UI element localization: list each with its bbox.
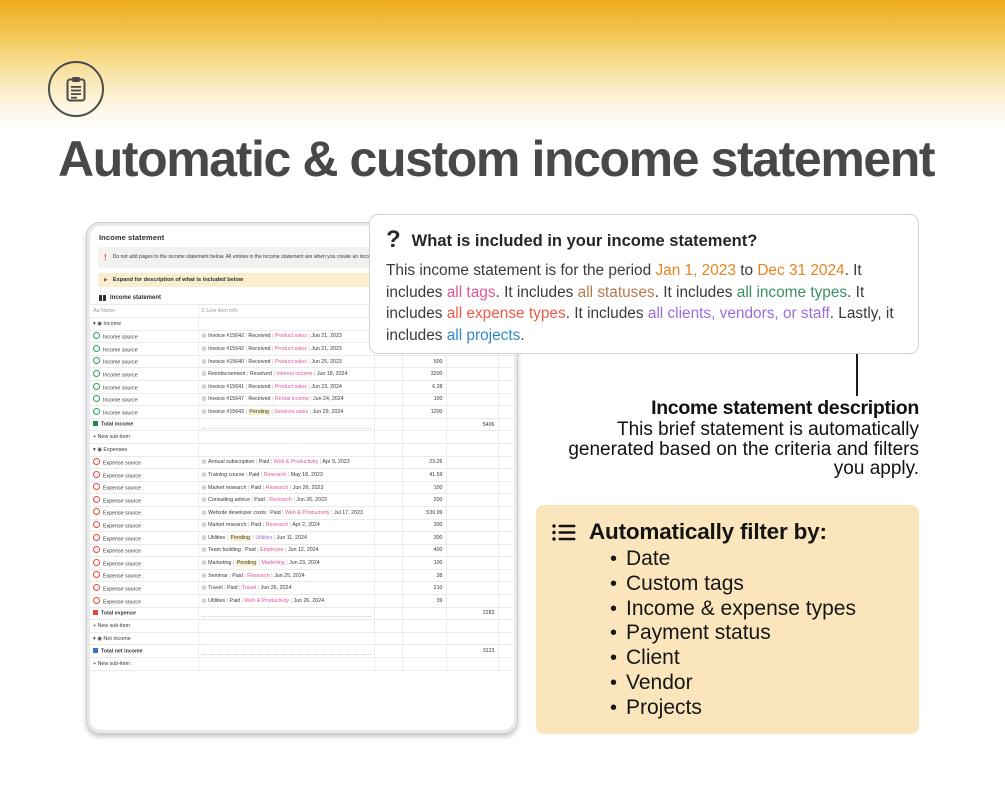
table-total-row[interactable]: Total expense2283: [90, 607, 514, 620]
annotation-block: Income statement description This brief …: [558, 397, 919, 479]
row-amount[interactable]: 41.59: [402, 469, 446, 482]
row-amount[interactable]: 210: [402, 582, 446, 595]
row-status: Paid: [259, 459, 270, 465]
filter-statuses: all statuses: [578, 284, 655, 301]
group-amount: [402, 443, 446, 456]
row-total: [446, 456, 498, 469]
new-subitem-info: [198, 620, 374, 633]
row-line-item-info[interactable]: ◎Invoice #15642 | Received | Product sal…: [198, 343, 374, 356]
group-label[interactable]: ▾ ◉ Expenses: [90, 443, 198, 456]
row-amount[interactable]: 300: [402, 519, 446, 532]
row-doc: Market research: [208, 522, 246, 528]
group-info: [198, 318, 374, 331]
row-blank: [374, 532, 402, 545]
page-icon: ◎: [202, 522, 207, 528]
group-label[interactable]: ▾ ◉ Income: [90, 318, 198, 331]
row-status: Paid: [245, 547, 256, 553]
column-header-name[interactable]: Aa Name: [90, 305, 198, 318]
clipboard-icon: [48, 61, 104, 117]
row-end: [498, 519, 514, 532]
total-amount-blank: [402, 645, 446, 658]
row-doc: Consulting advice: [208, 497, 250, 503]
row-status: Pending: [230, 535, 251, 541]
row-status: Received: [248, 384, 270, 390]
status-circle-icon: [93, 521, 100, 528]
row-total: [446, 557, 498, 570]
row-end: [498, 355, 514, 368]
row-doc: Market research: [208, 485, 246, 491]
row-blank: [374, 544, 402, 557]
row-status: Paid: [251, 485, 262, 491]
filter-panel-header: Automatically filter by:: [552, 519, 903, 545]
row-line-item-info[interactable]: ◎Travel | Paid | Travel | Jun 26, 2024: [198, 582, 374, 595]
status-circle-icon: [93, 471, 100, 478]
filter-list-item: Custom tags: [552, 572, 903, 597]
row-label[interactable]: Income source: [90, 380, 198, 393]
page-icon: ◎: [202, 371, 207, 377]
annotation-title: Income statement description: [558, 397, 919, 419]
row-type: Web & Productivity: [274, 459, 319, 465]
row-line-item-info[interactable]: ◎Consulting advice | Paid | Research | J…: [198, 494, 374, 507]
page-icon: ◎: [202, 510, 207, 516]
row-status: Paid: [270, 510, 281, 516]
filter-list-item: Date: [552, 547, 903, 572]
status-circle-icon: [93, 546, 100, 553]
row-date: May 18, 2023: [291, 472, 323, 478]
row-total: [446, 595, 498, 608]
row-amount[interactable]: 6.28: [402, 380, 446, 393]
total-amount-blank: [402, 607, 446, 620]
table-row[interactable]: Expense source◎Website developer costs |…: [90, 506, 514, 519]
table-row[interactable]: Expense source◎Travel | Paid | Travel | …: [90, 582, 514, 595]
row-type: Product sales: [275, 384, 307, 390]
row-line-item-info[interactable]: ◎Annual subscription | Paid | Web & Prod…: [198, 456, 374, 469]
row-blank: [374, 494, 402, 507]
triangle-right-icon: ▶: [104, 278, 108, 283]
row-line-item-info[interactable]: ◎Market research | Paid | Research | Jun…: [198, 481, 374, 494]
row-label[interactable]: Expense source: [90, 494, 198, 507]
row-amount[interactable]: 100: [402, 393, 446, 406]
row-status: Received: [250, 371, 272, 377]
table-row[interactable]: Expense source◎Training course | Paid | …: [90, 469, 514, 482]
row-end: [498, 532, 514, 545]
total-amount-blank: [402, 418, 446, 431]
page-icon: ◎: [202, 497, 207, 503]
status-circle-icon: [93, 559, 100, 566]
table-row[interactable]: Income source◎Invoice #15641 | Received …: [90, 380, 514, 393]
row-line-item-info[interactable]: ◎Seminar | Paid | Research | Jun 25, 202…: [198, 569, 374, 582]
status-circle-icon: [93, 408, 100, 415]
row-total: [446, 481, 498, 494]
qa-body: This income statement is for the period …: [386, 260, 900, 346]
page-icon: ◎: [202, 547, 207, 553]
group-end: [498, 632, 514, 645]
row-amount[interactable]: 400: [402, 544, 446, 557]
row-label[interactable]: Expense source: [90, 557, 198, 570]
row-type: Rental income: [275, 396, 309, 402]
row-line-item-info[interactable]: ◎Marketing | Pending | Marketing | Jun 2…: [198, 557, 374, 570]
group-icon: ◉: [97, 636, 102, 642]
group-total: [446, 632, 498, 645]
filter-panel-title: Automatically filter by:: [589, 519, 827, 545]
table-group-row[interactable]: ▾ ◉ Net income: [90, 632, 514, 645]
row-line-item-info[interactable]: ◎Invoice #15647 | Received | Rental inco…: [198, 393, 374, 406]
row-end: [498, 406, 514, 419]
row-line-item-info[interactable]: ◎Market research | Paid | Research | Apr…: [198, 519, 374, 532]
row-doc: Seminar: [208, 573, 228, 579]
text-icon: Aa: [93, 308, 99, 314]
total-end: [498, 418, 514, 431]
row-blank: [374, 582, 402, 595]
row-doc: Invoice #15642: [208, 346, 244, 352]
row-date: Jun 26, 2024: [261, 585, 292, 591]
column-header-line-item-info[interactable]: Σ Line item info: [198, 305, 374, 318]
row-line-item-info[interactable]: ◎Invoice #15642 | Received | Product sal…: [198, 330, 374, 343]
new-subitem-row[interactable]: + New sub-item: [90, 431, 514, 444]
new-subitem-end: [498, 658, 514, 671]
group-total: [446, 443, 498, 456]
row-amount[interactable]: 23.26: [402, 456, 446, 469]
row-type: Interest income: [276, 371, 312, 377]
row-doc: Utilities: [208, 535, 225, 541]
row-blank: [374, 393, 402, 406]
row-line-item-info[interactable]: ◎Utilities | Paid | Web & Productivity |…: [198, 595, 374, 608]
new-subitem-label[interactable]: + New sub-item: [90, 431, 198, 444]
database-name: Income statement: [110, 295, 161, 301]
row-label[interactable]: Expense source: [90, 519, 198, 532]
new-subitem-end: [498, 620, 514, 633]
row-amount[interactable]: 530.99: [402, 506, 446, 519]
header-gradient-band: [0, 0, 1005, 132]
row-total: [446, 469, 498, 482]
total-label[interactable]: Total expense: [90, 607, 198, 620]
row-label[interactable]: Expense source: [90, 582, 198, 595]
status-circle-icon: [93, 395, 100, 402]
row-end: [498, 544, 514, 557]
new-subitem-amount: [402, 658, 446, 671]
total-label[interactable]: Total net income: [90, 645, 198, 658]
row-line-item-info[interactable]: ◎Reimbursement | Received | Interest inc…: [198, 368, 374, 381]
page-icon: ◎: [202, 409, 207, 415]
row-total: [446, 532, 498, 545]
total-dotted-line: [202, 427, 371, 429]
row-end: [498, 557, 514, 570]
table-row[interactable]: Expense source◎Utilities | Pending | Uti…: [90, 532, 514, 545]
new-subitem-amount: [402, 431, 446, 444]
sigma-icon: Σ: [202, 308, 205, 314]
row-doc: Marketing: [208, 560, 231, 566]
row-label[interactable]: Expense source: [90, 456, 198, 469]
total-end: [498, 607, 514, 620]
page-icon: ◎: [202, 535, 207, 541]
row-label[interactable]: Income source: [90, 368, 198, 381]
table-row[interactable]: Expense source◎Market research | Paid | …: [90, 481, 514, 494]
row-end: [498, 481, 514, 494]
status-circle-icon: [93, 458, 100, 465]
row-end: [498, 582, 514, 595]
filter-list-item: Income & expense types: [552, 597, 903, 622]
page-icon: ◎: [202, 573, 207, 579]
status-circle-icon: [93, 571, 100, 578]
new-subitem-row[interactable]: + New sub-item: [90, 620, 514, 633]
total-blank: [374, 645, 402, 658]
row-label[interactable]: Income source: [90, 406, 198, 419]
total-end: [498, 645, 514, 658]
page-icon: ◎: [202, 485, 207, 491]
row-blank: [374, 380, 402, 393]
table-row[interactable]: Income source◎Invoice #15640 | Received …: [90, 355, 514, 368]
row-doc: Invoice #15647: [208, 396, 244, 402]
row-doc: Utilities: [208, 598, 225, 604]
row-type: Product sales: [275, 346, 307, 352]
row-date: Jun 26, 2024: [293, 598, 324, 604]
row-type: Travel: [242, 585, 257, 591]
row-label[interactable]: Income source: [90, 330, 198, 343]
total-label[interactable]: Total income: [90, 418, 198, 431]
annotation-pointer-line: [856, 354, 858, 396]
row-label[interactable]: Expense source: [90, 481, 198, 494]
row-line-item-info[interactable]: ◎Invoice #15643 | Pending | Services sal…: [198, 406, 374, 419]
table-row[interactable]: Expense source◎Consulting advice | Paid …: [90, 494, 514, 507]
row-amount[interactable]: 100: [402, 481, 446, 494]
status-circle-icon: [93, 383, 100, 390]
row-status: Paid: [249, 472, 260, 478]
plus-icon: +: [93, 623, 96, 629]
total-dotted-line: [202, 653, 371, 655]
row-status: Received: [248, 346, 270, 352]
row-blank: [374, 557, 402, 570]
row-amount[interactable]: 500: [402, 355, 446, 368]
qa-text-5: . It includes: [655, 284, 737, 301]
total-blank: [374, 607, 402, 620]
page-icon: ◎: [202, 585, 207, 591]
total-dotted-line: [202, 615, 371, 617]
table-row[interactable]: Expense source◎Market research | Paid | …: [90, 519, 514, 532]
page-icon: ◎: [202, 359, 207, 365]
row-status: Received: [248, 333, 270, 339]
row-date: Apr 9, 2023: [322, 459, 349, 465]
row-amount[interactable]: 200: [402, 494, 446, 507]
row-doc: Invoice #15640: [208, 359, 244, 365]
row-total: [446, 368, 498, 381]
row-amount[interactable]: 38: [402, 569, 446, 582]
new-subitem-blank: [374, 658, 402, 671]
row-type: Web & Productivity: [285, 510, 330, 516]
qa-text-9: .: [520, 327, 524, 344]
row-total: [446, 393, 498, 406]
row-date: Jun 24, 2024: [313, 396, 344, 402]
row-blank: [374, 481, 402, 494]
row-label[interactable]: Income source: [90, 343, 198, 356]
table-row[interactable]: Income source◎Reimbursement | Received |…: [90, 368, 514, 381]
page-title: Automatic & custom income statement: [58, 128, 958, 190]
row-blank: [374, 595, 402, 608]
row-doc: Travel: [208, 585, 223, 591]
plus-icon: +: [93, 434, 96, 440]
row-status: Pending: [236, 560, 257, 566]
table-row[interactable]: Expense source◎Annual subscription | Pai…: [90, 456, 514, 469]
table-row[interactable]: Expense source◎Utilities | Paid | Web & …: [90, 595, 514, 608]
row-doc: Invoice #15641: [208, 384, 244, 390]
new-subitem-label[interactable]: + New sub-item: [90, 620, 198, 633]
row-amount[interactable]: 100: [402, 557, 446, 570]
row-blank: [374, 519, 402, 532]
page-icon: ◎: [202, 346, 207, 352]
row-line-item-info[interactable]: ◎Training course | Paid | Research | May…: [198, 469, 374, 482]
new-subitem-end: [498, 431, 514, 444]
new-subitem-label[interactable]: + New sub-item: [90, 658, 198, 671]
plus-icon: +: [93, 661, 96, 667]
row-type: Research: [266, 522, 289, 528]
page-icon: ◎: [202, 459, 207, 465]
table-row[interactable]: Income source◎Invoice #15643 | Pending |…: [90, 406, 514, 419]
row-doc: Annual subscription: [208, 459, 254, 465]
row-status: Received: [248, 359, 270, 365]
total-value[interactable]: 3123: [446, 645, 498, 658]
row-line-item-info[interactable]: ◎Website developer costs | Paid | Web & …: [198, 506, 374, 519]
table-row[interactable]: Expense source◎Team building | Paid | Em…: [90, 544, 514, 557]
table-total-row[interactable]: Total net income3123: [90, 645, 514, 658]
row-label[interactable]: Expense source: [90, 469, 198, 482]
total-value[interactable]: 2283: [446, 607, 498, 620]
row-date: Jun 18, 2024: [317, 371, 348, 377]
group-amount: [402, 632, 446, 645]
status-circle-icon: [93, 370, 100, 377]
row-total: [446, 494, 498, 507]
period-end-date: Dec 31 2024: [757, 262, 844, 279]
row-date: Jun 29, 2024: [313, 409, 344, 415]
row-blank: [374, 469, 402, 482]
row-line-item-info[interactable]: ◎Team building | Paid | Employee | Jun 1…: [198, 544, 374, 557]
question-mark-icon: ?: [386, 229, 401, 251]
row-type: Research: [247, 573, 270, 579]
new-subitem-total: [446, 658, 498, 671]
row-blank: [374, 355, 402, 368]
table-row[interactable]: Expense source◎Seminar | Paid | Research…: [90, 569, 514, 582]
row-doc: Invoice #15643: [208, 409, 244, 415]
group-info: [198, 443, 374, 456]
row-label[interactable]: Income source: [90, 355, 198, 368]
row-label[interactable]: Expense source: [90, 544, 198, 557]
row-status: Paid: [232, 573, 243, 579]
page-icon: ◎: [202, 333, 207, 339]
page-icon: ◎: [202, 560, 207, 566]
total-value[interactable]: 5406: [446, 418, 498, 431]
row-label[interactable]: Expense source: [90, 506, 198, 519]
row-date: Jul 17, 2023: [334, 510, 363, 516]
row-type: Product sales: [275, 333, 307, 339]
total-square-icon: [93, 648, 98, 653]
exclamation-icon: !: [104, 253, 107, 262]
filter-list: DateCustom tagsIncome & expense typesPay…: [552, 547, 903, 721]
bullet-list-icon: [552, 523, 577, 542]
row-amount[interactable]: 300: [402, 532, 446, 545]
row-total: [446, 380, 498, 393]
total-blank: [374, 418, 402, 431]
row-date: Jun 21, 2023: [311, 333, 342, 339]
table-total-row[interactable]: Total income5406: [90, 418, 514, 431]
row-doc: Website developer costs: [208, 510, 266, 516]
row-line-item-info[interactable]: ◎Invoice #15641 | Received | Product sal…: [198, 380, 374, 393]
group-end: [498, 443, 514, 456]
filter-expense-types: all expense types: [447, 305, 566, 322]
new-subitem-amount: [402, 620, 446, 633]
total-info: [198, 645, 374, 658]
total-info: [198, 607, 374, 620]
row-line-item-info[interactable]: ◎Invoice #15640 | Received | Product sal…: [198, 355, 374, 368]
row-date: Jun 25, 2023: [311, 359, 342, 365]
income-statement-table: Aa NameΣ Line item info▾ ◉ IncomeIncome …: [90, 304, 514, 671]
row-label[interactable]: Expense source: [90, 532, 198, 545]
group-label[interactable]: ▾ ◉ Net income: [90, 632, 198, 645]
row-date: Jun 21, 2023: [311, 346, 342, 352]
new-subitem-row[interactable]: + New sub-item: [90, 658, 514, 671]
filter-income-types: all income types: [737, 284, 847, 301]
row-status: Paid: [254, 497, 265, 503]
qa-text-1: This income statement is for the period: [386, 262, 655, 279]
group-icon: ◉: [97, 321, 102, 327]
status-circle-icon: [93, 332, 100, 339]
book-icon: [99, 295, 106, 301]
row-total: [446, 582, 498, 595]
filter-list-item: Projects: [552, 696, 903, 721]
row-amount[interactable]: 1200: [402, 406, 446, 419]
row-end: [498, 569, 514, 582]
row-date: Jun 12, 2024: [288, 547, 319, 553]
filter-tags: all tags: [447, 284, 496, 301]
new-subitem-blank: [374, 431, 402, 444]
row-line-item-info[interactable]: ◎Utilities | Pending | Utilities | Jun 1…: [198, 532, 374, 545]
qa-text-4: . It includes: [496, 284, 578, 301]
annotation-text: This brief statement is automatically ge…: [558, 420, 919, 479]
row-label[interactable]: Expense source: [90, 569, 198, 582]
row-date: Jun 25, 2024: [274, 573, 305, 579]
caret-down-icon[interactable]: ▾: [93, 447, 96, 453]
row-status: Paid: [251, 522, 262, 528]
caret-down-icon[interactable]: ▾: [93, 636, 96, 642]
row-amount[interactable]: 3200: [402, 368, 446, 381]
row-total: [446, 355, 498, 368]
status-circle-icon: [93, 584, 100, 591]
row-status: Paid: [230, 598, 241, 604]
table-row[interactable]: Income source◎Invoice #15647 | Received …: [90, 393, 514, 406]
row-type: Marketing: [262, 560, 285, 566]
new-subitem-total: [446, 431, 498, 444]
row-date: Jun 26, 2023: [293, 485, 324, 491]
total-info: [198, 418, 374, 431]
table-row[interactable]: Expense source◎Marketing | Pending | Mar…: [90, 557, 514, 570]
row-type: Research: [264, 472, 287, 478]
qa-header: ? What is included in your income statem…: [386, 229, 900, 252]
row-amount[interactable]: 39: [402, 595, 446, 608]
qa-text-2: to: [736, 262, 757, 279]
row-end: [498, 595, 514, 608]
table-group-row[interactable]: ▾ ◉ Expenses: [90, 443, 514, 456]
row-label[interactable]: Income source: [90, 393, 198, 406]
row-label[interactable]: Expense source: [90, 595, 198, 608]
row-type: Research: [266, 485, 289, 491]
row-type: Research: [269, 497, 292, 503]
status-circle-icon: [93, 345, 100, 352]
caret-down-icon[interactable]: ▾: [93, 321, 96, 327]
row-total: [446, 569, 498, 582]
filter-list-item: Payment status: [552, 621, 903, 646]
qa-text-7: . It includes: [566, 305, 648, 322]
filter-projects: all projects: [447, 327, 521, 344]
row-date: Jun 23, 2024: [289, 560, 320, 566]
row-date: Apr 2, 2024: [292, 522, 319, 528]
new-subitem-info: [198, 431, 374, 444]
